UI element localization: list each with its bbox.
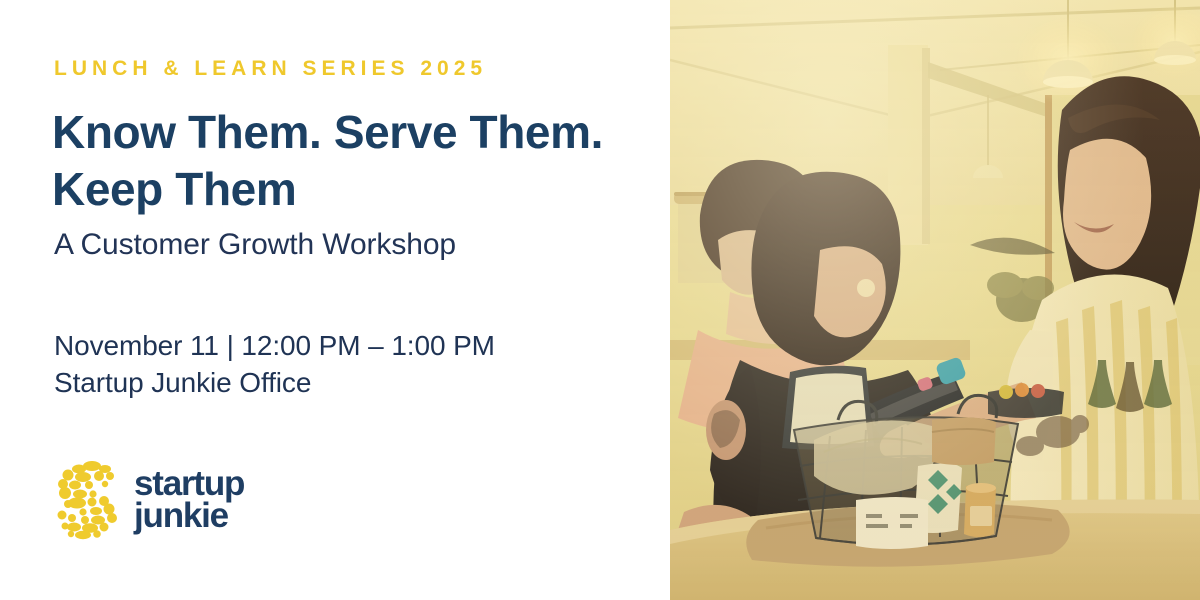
headline-line-1: Know Them. Serve Them. — [52, 104, 652, 161]
startup-junkie-logo: startup junkie — [52, 460, 244, 540]
page-title: Know Them. Serve Them. Keep Them — [52, 104, 652, 218]
headline-line-2: Keep Them — [52, 161, 652, 218]
logo-wordmark: startup junkie — [134, 468, 244, 532]
series-eyebrow: LUNCH & LEARN SERIES 2025 — [54, 57, 487, 81]
subtitle: A Customer Growth Workshop — [54, 228, 456, 262]
event-details: November 11 | 12:00 PM – 1:00 PM Startup… — [54, 327, 495, 401]
event-photo — [670, 0, 1200, 600]
retail-checkout-photo — [670, 0, 1200, 600]
text-panel: LUNCH & LEARN SERIES 2025 Know Them. Ser… — [0, 0, 670, 600]
event-banner: LUNCH & LEARN SERIES 2025 Know Them. Ser… — [0, 0, 1200, 600]
event-datetime: November 11 | 12:00 PM – 1:00 PM — [54, 327, 495, 364]
event-venue: Startup Junkie Office — [54, 364, 495, 401]
logo-word-junkie: junkie — [134, 500, 244, 532]
dotted-s-icon — [52, 460, 124, 540]
